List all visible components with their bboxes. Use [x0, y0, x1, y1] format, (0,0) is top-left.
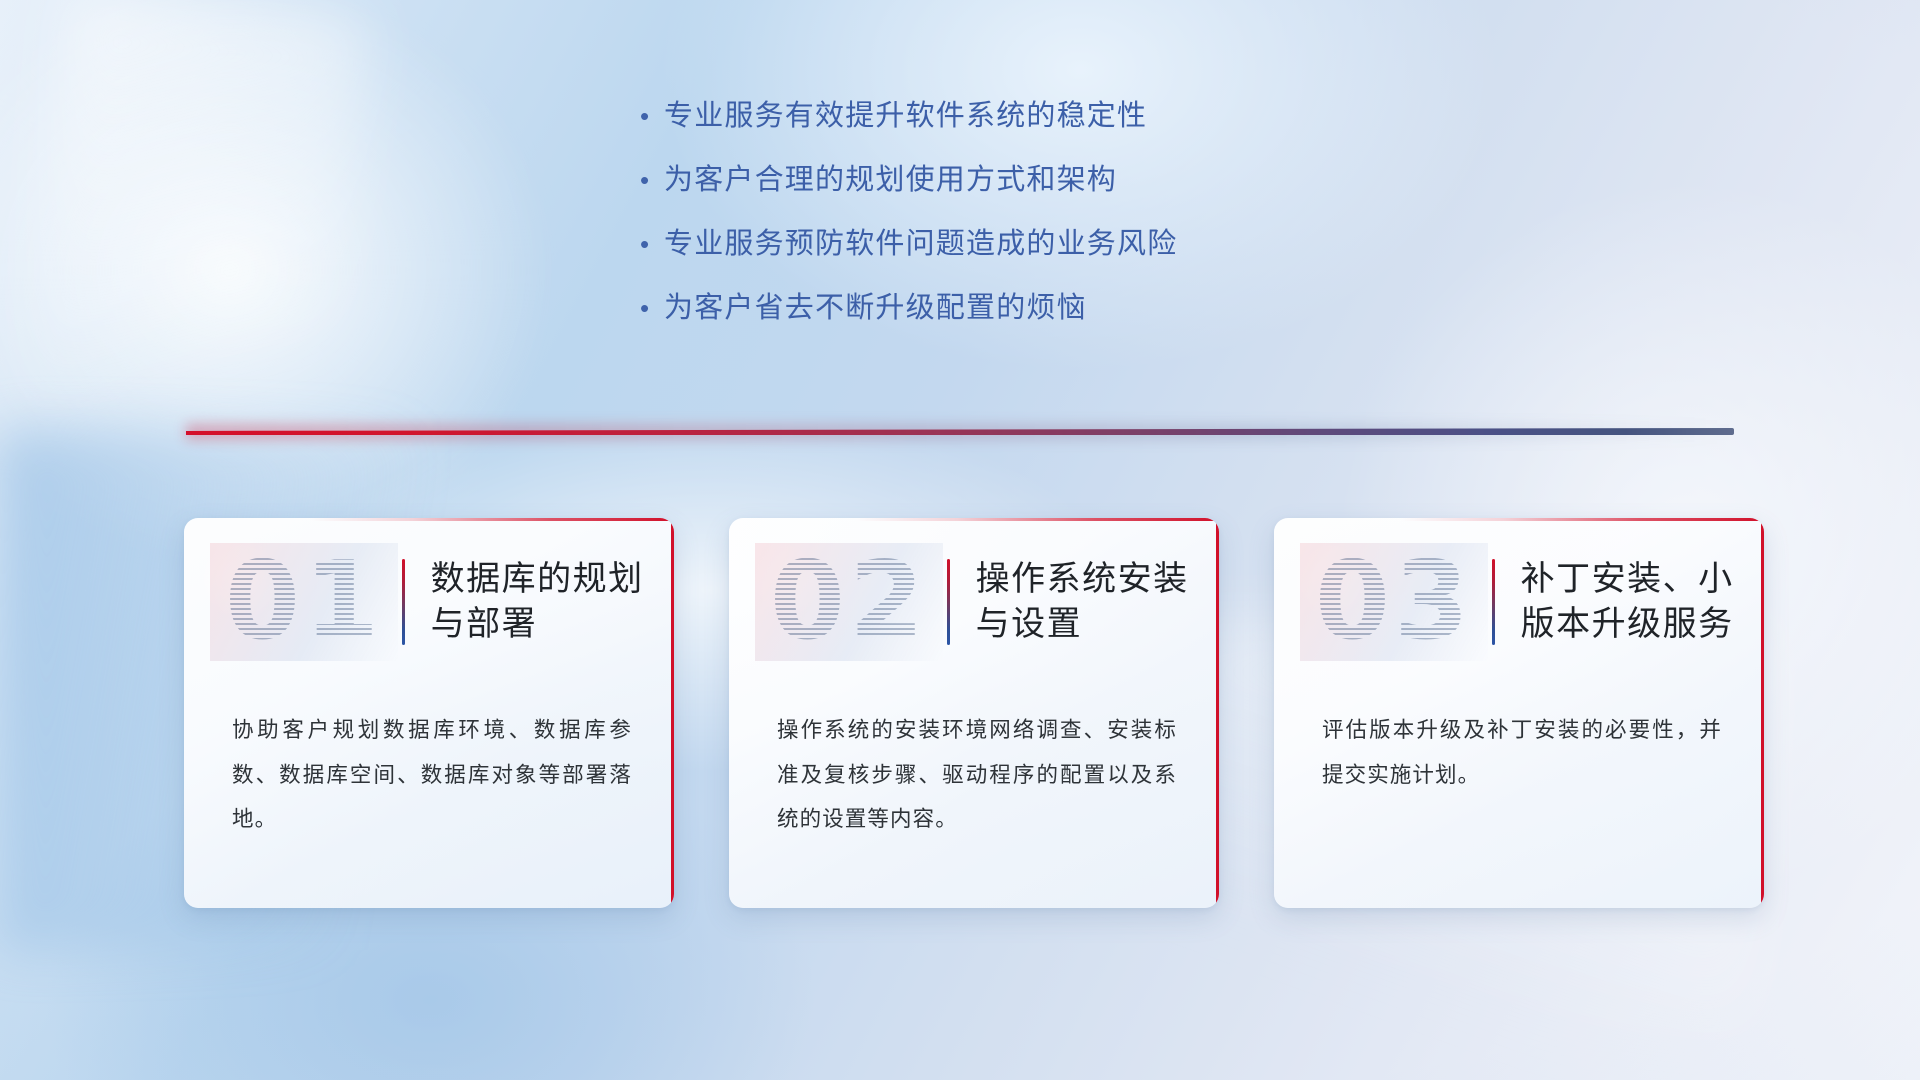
- card-title: 补丁安装、小 版本升级服务: [1521, 557, 1734, 647]
- bullet-item: • 专业服务有效提升软件系统的稳定性: [630, 92, 1290, 156]
- card-title-rule: [402, 559, 405, 645]
- card-body-text: 评估版本升级及补丁安装的必要性，并提交实施计划。: [1322, 708, 1722, 797]
- card-body-text: 协助客户规划数据库环境、数据库参数、数据库空间、数据库对象等部署落地。: [232, 708, 632, 842]
- card-number-watermark: 03: [1300, 543, 1488, 661]
- service-card[interactable]: 01 数据库的规划 与部署 协助客户规划数据库环境、数据库参数、数据库空间、数据…: [184, 518, 674, 908]
- service-card[interactable]: 03 补丁安装、小 版本升级服务 评估版本升级及补丁安装的必要性，并提交实施计划…: [1274, 518, 1764, 908]
- bullet-item-text: 为客户省去不断升级配置的烦恼: [664, 284, 1087, 326]
- card-number-text: 03: [1315, 548, 1473, 656]
- card-title: 操作系统安装 与设置: [976, 557, 1189, 647]
- card-title-rule: [1492, 559, 1495, 645]
- bullet-dot-icon: •: [630, 103, 664, 129]
- bullet-dot-icon: •: [630, 167, 664, 193]
- card-number-text: 01: [225, 548, 383, 656]
- bullet-item-text: 为客户合理的规划使用方式和架构: [664, 156, 1117, 198]
- service-card-list: 01 数据库的规划 与部署 协助客户规划数据库环境、数据库参数、数据库空间、数据…: [184, 518, 1764, 908]
- bullet-dot-icon: •: [630, 231, 664, 257]
- section-divider: [186, 424, 1734, 440]
- bullet-item: • 为客户省去不断升级配置的烦恼: [630, 284, 1290, 348]
- card-header: 03 补丁安装、小 版本升级服务: [1274, 518, 1764, 686]
- card-header: 02 操作系统安装 与设置: [729, 518, 1219, 686]
- card-number-text: 02: [770, 548, 928, 656]
- card-title-rule: [947, 559, 950, 645]
- card-number-watermark: 01: [210, 543, 398, 661]
- card-header: 01 数据库的规划 与部署: [184, 518, 674, 686]
- card-body-text: 操作系统的安装环境网络调查、安装标准及复核步骤、驱动程序的配置以及系统的设置等内…: [777, 708, 1177, 842]
- bullet-item-text: 专业服务预防软件问题造成的业务风险: [664, 220, 1177, 262]
- benefits-bullet-list: • 专业服务有效提升软件系统的稳定性 • 为客户合理的规划使用方式和架构 • 专…: [0, 92, 1920, 348]
- bullet-item: • 专业服务预防软件问题造成的业务风险: [630, 220, 1290, 284]
- bullet-dot-icon: •: [630, 295, 664, 321]
- service-card[interactable]: 02 操作系统安装 与设置 操作系统的安装环境网络调查、安装标准及复核步骤、驱动…: [729, 518, 1219, 908]
- card-title: 数据库的规划 与部署: [431, 557, 644, 647]
- card-number-watermark: 02: [755, 543, 943, 661]
- bullet-item-text: 专业服务有效提升软件系统的稳定性: [664, 92, 1147, 134]
- bullet-item: • 为客户合理的规划使用方式和架构: [630, 156, 1290, 220]
